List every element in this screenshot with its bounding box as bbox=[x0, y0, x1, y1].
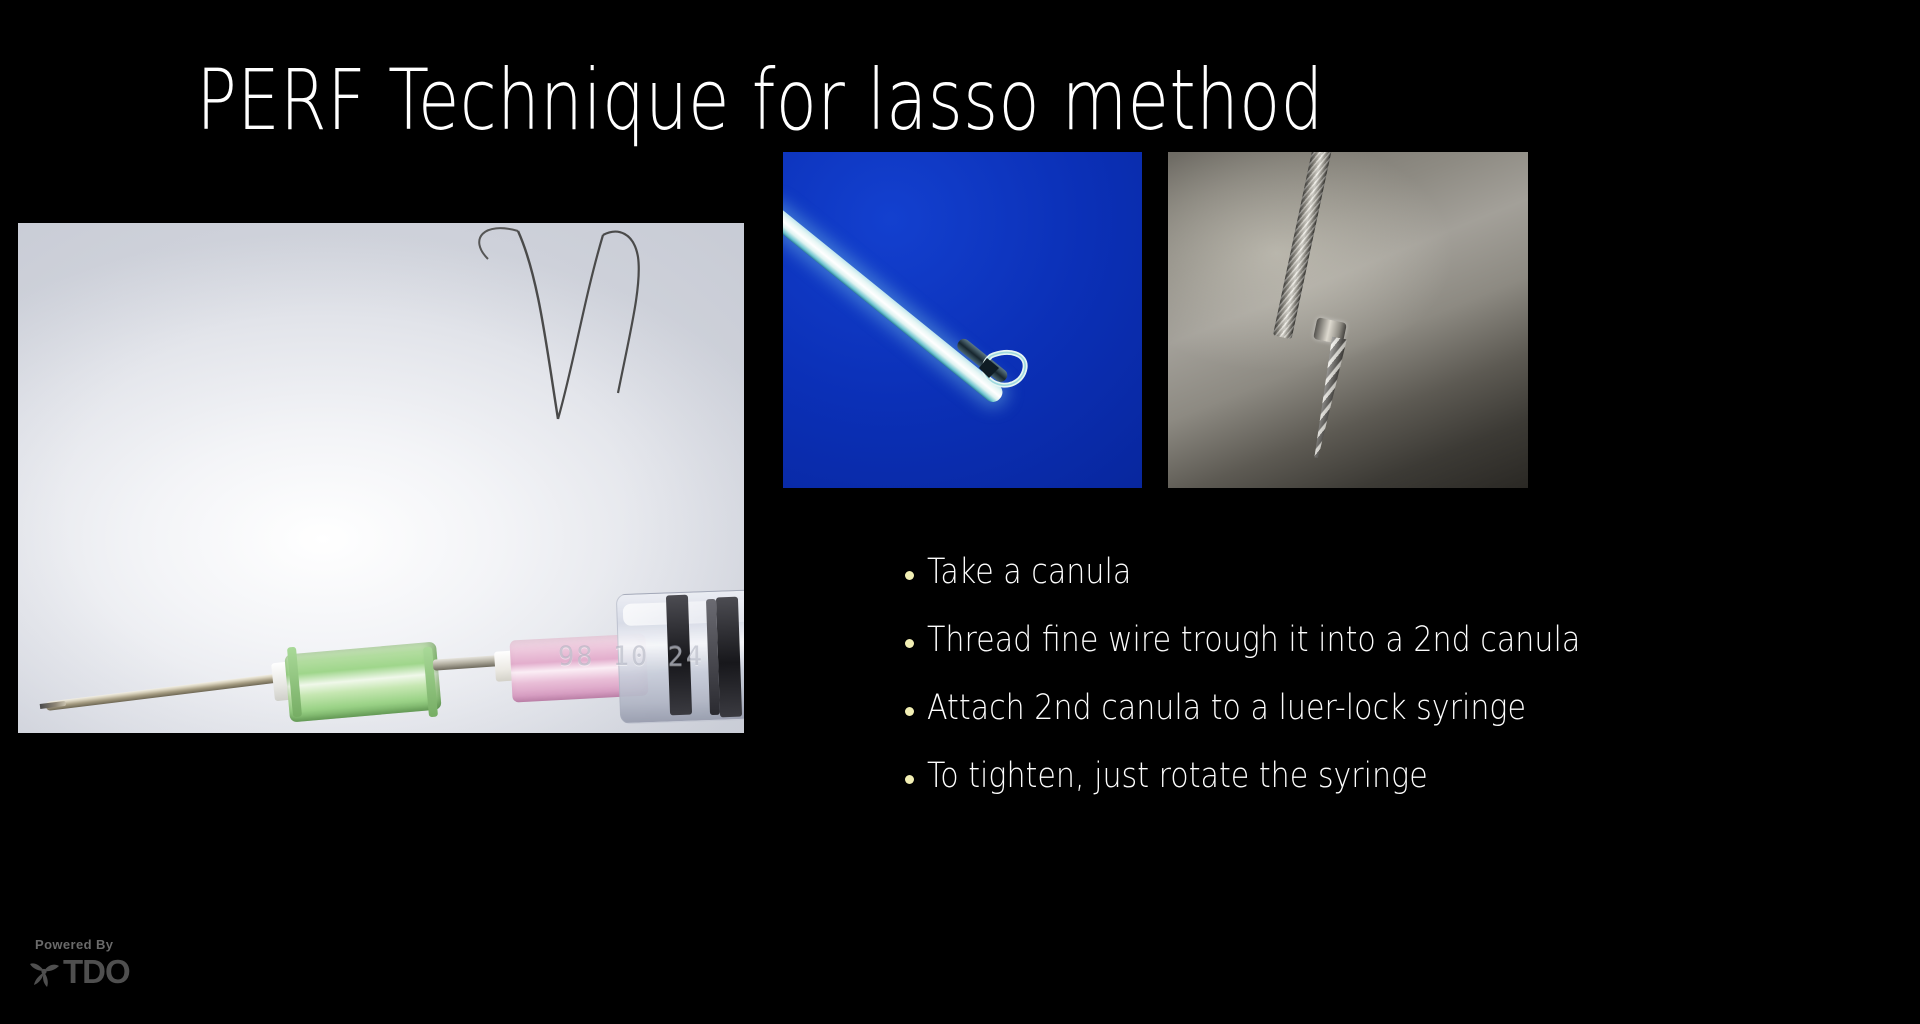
green-canula-hub bbox=[284, 642, 441, 723]
bullet-dot-icon bbox=[905, 571, 914, 580]
tdo-wordmark: TDO bbox=[63, 955, 130, 988]
bullet-text: Take a canula bbox=[927, 555, 1131, 590]
photo-highlight bbox=[1168, 152, 1528, 488]
list-item: Take a canula bbox=[905, 538, 1885, 606]
powered-by-label: Powered By bbox=[35, 938, 158, 951]
photo-timestamp: 98 10 24 bbox=[558, 641, 704, 672]
tdo-logo: Powered By TDO bbox=[28, 938, 158, 1002]
list-item: Thread fine wire trough it into a 2nd ca… bbox=[905, 606, 1885, 674]
lasso-loop-photo bbox=[783, 152, 1142, 488]
bullet-text: Attach 2nd canula to a luer-lock syringe bbox=[927, 691, 1526, 726]
tdo-mark: TDO bbox=[28, 955, 158, 988]
bullet-dot-icon bbox=[905, 775, 914, 784]
list-item: To tighten, just rotate the syringe bbox=[905, 742, 1885, 810]
bullet-text: To tighten, just rotate the syringe bbox=[927, 759, 1428, 794]
slide-title: PERF Technique for lasso method bbox=[152, 58, 1368, 142]
bullet-text: Thread fine wire trough it into a 2nd ca… bbox=[927, 623, 1580, 658]
bullet-list: Take a canula Thread fine wire trough it… bbox=[905, 538, 1885, 810]
plunger-band bbox=[716, 597, 742, 718]
presentation-slide: PERF Technique for lasso method 98 10 24 bbox=[0, 0, 1920, 1024]
bullet-dot-icon bbox=[905, 639, 914, 648]
list-item: Attach 2nd canula to a luer-lock syringe bbox=[905, 674, 1885, 742]
wire-loop bbox=[783, 152, 1142, 488]
pinwheel-icon bbox=[28, 956, 62, 988]
syringe-assembly-photo: 98 10 24 bbox=[18, 223, 744, 733]
drill-bit-photo bbox=[1168, 152, 1528, 488]
bullet-dot-icon bbox=[905, 707, 914, 716]
